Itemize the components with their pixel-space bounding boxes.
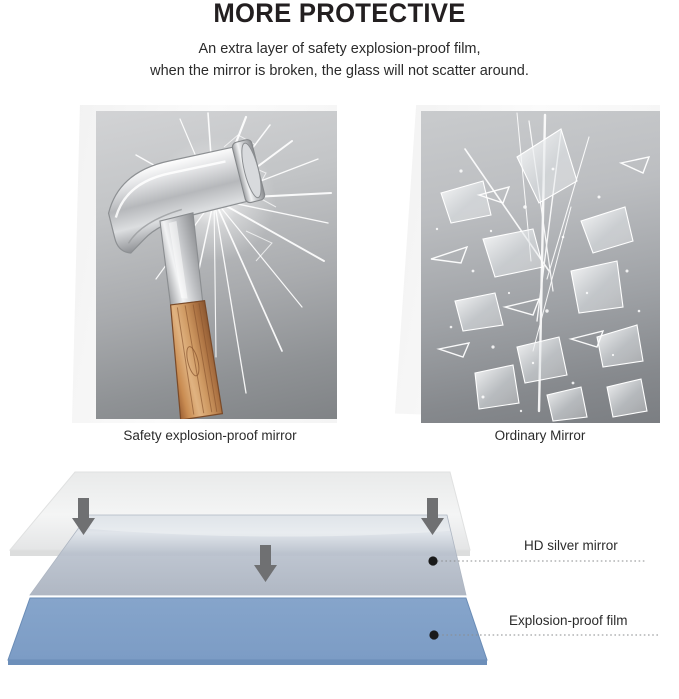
caption-right: Ordinary Mirror [370, 428, 679, 443]
safety-mirror-image [96, 111, 337, 419]
caption-left: Safety explosion-proof mirror [40, 428, 380, 443]
page-title: MORE PROTECTIVE [17, 0, 662, 29]
ordinary-mirror-image [421, 111, 660, 423]
subtitle-line-2: when the mirror is broken, the glass wil… [0, 63, 679, 79]
callout-hd-silver-mirror [428, 556, 645, 565]
layer-hd-silver-mirror [30, 515, 466, 595]
subtitle-line-1: An extra layer of safety explosion-proof… [0, 41, 679, 57]
callout-dot-hd-mirror [428, 556, 437, 565]
callout-label-explosion-proof-film: Explosion-proof film [509, 613, 628, 628]
callout-dot-film [429, 630, 438, 639]
comparison-panel-right [395, 105, 660, 423]
layer-structure-diagram [0, 455, 679, 699]
layer-explosion-proof-film [8, 598, 487, 665]
comparison-panel-left [72, 105, 337, 423]
callout-label-hd-silver-mirror: HD silver mirror [524, 538, 618, 553]
